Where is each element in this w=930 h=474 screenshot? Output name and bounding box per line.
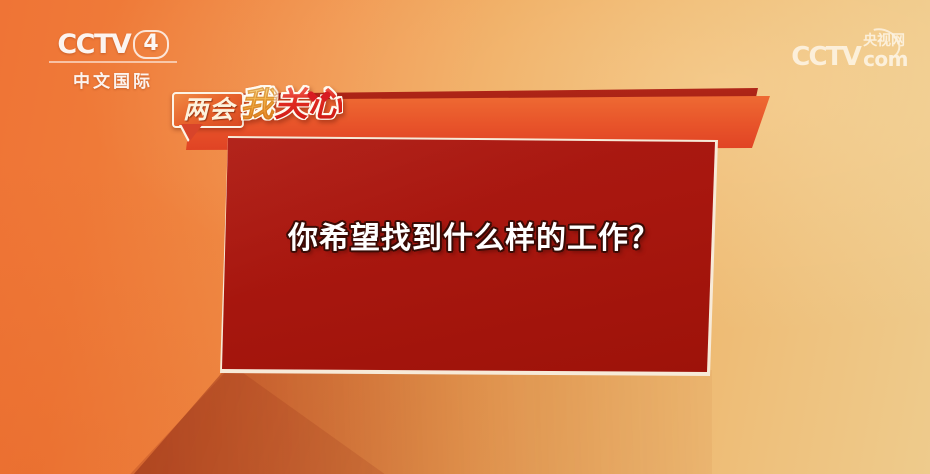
channel-bug-row: CCTV 4 bbox=[38, 30, 188, 59]
channel-bug: CCTV 4 中文国际 bbox=[38, 30, 188, 92]
badge-main-title: 我关心 bbox=[240, 88, 342, 122]
question-text: 你希望找到什么样的工作？ bbox=[214, 213, 734, 257]
speech-bubble-tail-icon bbox=[181, 124, 203, 141]
badge-box-label: 两会 bbox=[183, 95, 235, 124]
channel-number-badge: 4 bbox=[133, 30, 168, 59]
cctv-com-watermark: CCTV 央视网 com bbox=[791, 34, 908, 70]
channel-subtitle: 中文国际 bbox=[38, 67, 188, 92]
program-badge: 两会 我关心 bbox=[172, 92, 342, 144]
badge-title-gold: 我 bbox=[240, 85, 274, 125]
watermark-brand-label: CCTV bbox=[791, 44, 860, 70]
heart-icon bbox=[313, 92, 325, 103]
broadcast-graphic-frame: 你希望找到什么样的工作？ 两会 我关心 CCTV 4 中文国际 CCTV 央视网… bbox=[0, 0, 930, 474]
channel-bug-divider bbox=[49, 61, 177, 63]
channel-brand-label: CCTV bbox=[57, 31, 130, 58]
badge-speech-bubble: 两会 bbox=[172, 92, 244, 128]
